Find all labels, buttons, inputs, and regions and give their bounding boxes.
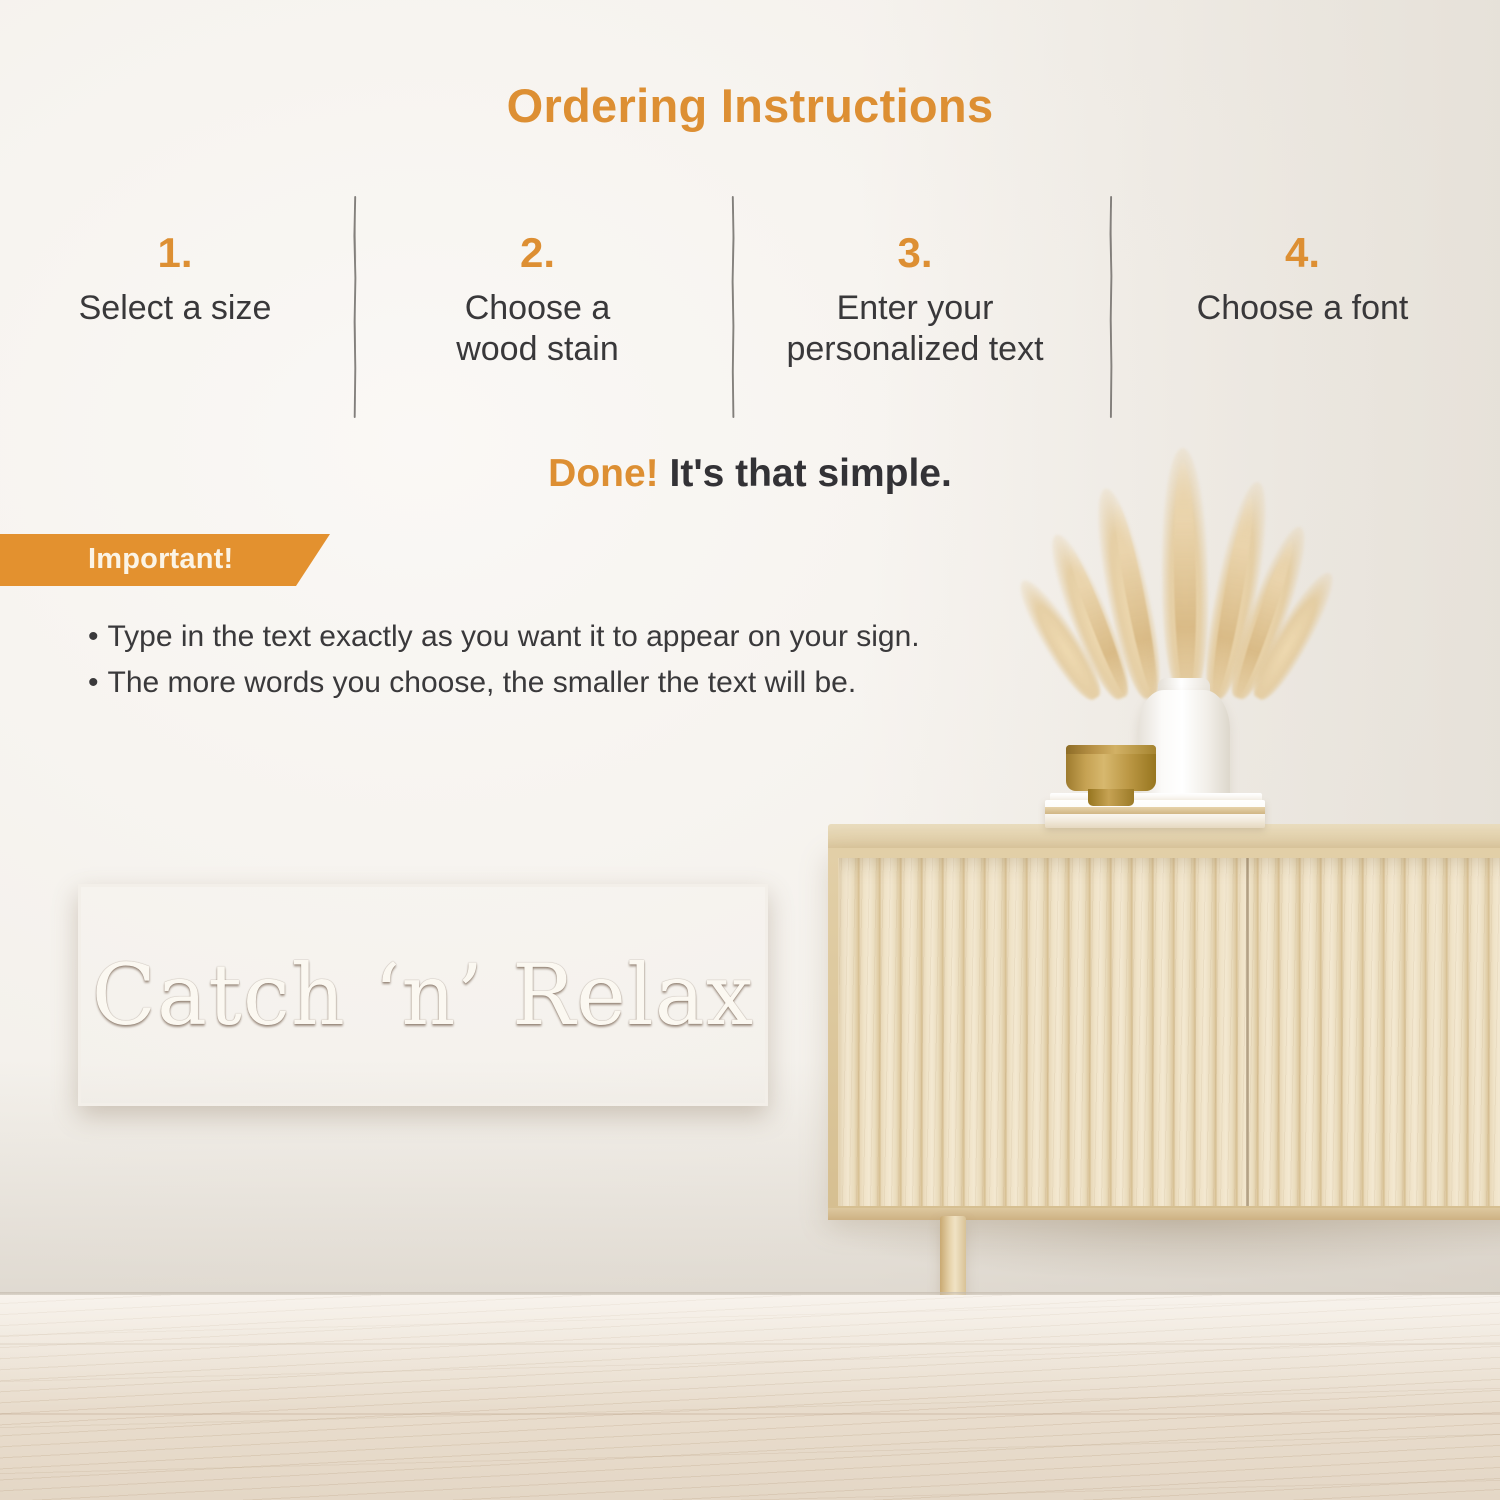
book-page-edge: [1045, 807, 1265, 814]
step-1: 1. Select a size: [0, 232, 350, 371]
sideboard-bottom-edge: [828, 1208, 1500, 1220]
step-3-label: Enter yourpersonalized text: [731, 288, 1099, 371]
note-text: The more words you choose, the smaller t…: [108, 666, 857, 699]
product-infographic: Catch ‘n’ Relax Ordering Instructions 1.…: [0, 0, 1500, 1500]
bowl-foot: [1088, 789, 1134, 806]
tagline-accent: Done!: [548, 452, 659, 495]
page-title: Ordering Instructions: [0, 78, 1500, 133]
steps-row: 1. Select a size 2. Choose awood stain 3…: [0, 232, 1500, 371]
step-1-number: 1.: [6, 232, 344, 274]
step-2-label: Choose awood stain: [356, 288, 719, 371]
important-ribbon-label: Important!: [88, 543, 233, 576]
tagline-rest: It's that simple.: [670, 452, 952, 495]
brass-bowl: [1066, 745, 1156, 805]
bowl-rim: [1066, 745, 1156, 754]
note-text: Type in the text exactly as you want it …: [108, 620, 920, 653]
sideboard-body: [828, 848, 1500, 1216]
bullet-icon: •: [88, 666, 99, 699]
step-4-label: Choose a font: [1111, 288, 1494, 329]
important-notes: •Type in the text exactly as you want it…: [88, 614, 1208, 705]
step-4-number: 4.: [1111, 232, 1494, 274]
bullet-icon: •: [88, 620, 99, 653]
step-2-number: 2.: [356, 232, 719, 274]
step-1-label: Select a size: [6, 288, 344, 329]
sideboard-shadow: [798, 1220, 1500, 1280]
important-ribbon: Important!: [0, 534, 330, 586]
wood-floor: [0, 1295, 1500, 1500]
tagline: Done! It's that simple.: [0, 452, 1500, 496]
note-item: •Type in the text exactly as you want it…: [88, 614, 1208, 660]
step-3-number: 3.: [731, 232, 1099, 274]
floor-sheen: [0, 1295, 1500, 1500]
fluted-sideboard: [828, 824, 1500, 1239]
note-item: •The more words you choose, the smaller …: [88, 660, 1208, 706]
step-4: 4. Choose a font: [1105, 232, 1500, 371]
wooden-sign: Catch ‘n’ Relax: [78, 884, 768, 1106]
step-2: 2. Choose awood stain: [350, 232, 725, 371]
step-3: 3. Enter yourpersonalized text: [725, 232, 1105, 371]
sign-text: Catch ‘n’ Relax: [92, 946, 754, 1044]
sideboard-frame: [828, 848, 1500, 1216]
